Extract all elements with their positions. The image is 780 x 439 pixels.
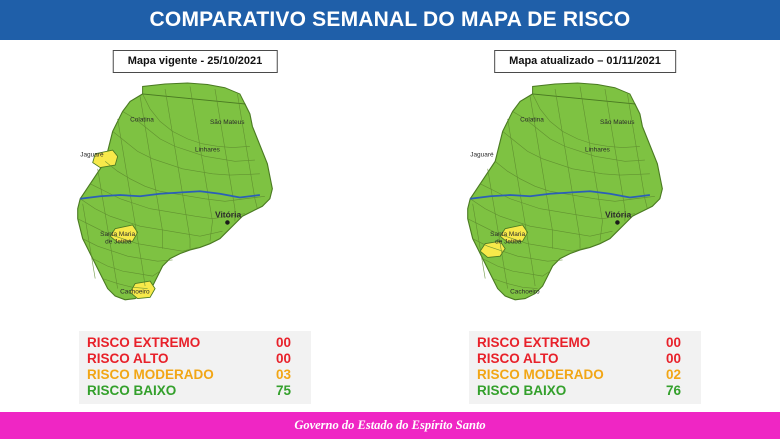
legend-value-alto: 00 <box>276 351 305 367</box>
legend-row-moderado: RISCO MODERADO 02 <box>475 367 695 383</box>
legend-value-moderado: 03 <box>276 367 305 383</box>
map-label-cachoeiro: Cachoeiro <box>510 289 540 296</box>
legend-row-alto: RISCO ALTO 00 <box>475 351 695 367</box>
map-label-jaguare: Jaguaré <box>80 151 104 158</box>
map-svg-vigente: Vitória Jaguaré Linhares São Mateus Cola… <box>45 74 345 336</box>
map-svg-atualizado: Vitória Jaguaré Linhares São Mateus Cola… <box>435 74 735 336</box>
legend-label-extremo: RISCO EXTREMO <box>85 335 200 351</box>
map-label-linhares: Linhares <box>195 146 220 153</box>
capital-marker <box>225 220 229 224</box>
legend-label-alto: RISCO ALTO <box>85 351 169 367</box>
panel-vigente: Mapa vigente - 25/10/2021 <box>0 40 390 412</box>
map-label-santa-maria-jetiba: Santa Maria <box>490 231 525 238</box>
panels-container: Mapa vigente - 25/10/2021 <box>0 40 780 412</box>
legend-value-extremo: 00 <box>276 335 305 351</box>
footer-text: Governo do Estado do Espírito Santo <box>294 418 485 433</box>
legend-atualizado: RISCO EXTREMO 00 RISCO ALTO 00 RISCO MOD… <box>469 331 701 404</box>
map-label-santa-maria-jetiba: Santa Maria <box>100 231 135 238</box>
legend-vigente: RISCO EXTREMO 00 RISCO ALTO 00 RISCO MOD… <box>79 331 311 404</box>
footer-bar: Governo do Estado do Espírito Santo <box>0 412 780 439</box>
map-label-jaguare: Jaguaré <box>470 151 494 158</box>
legend-row-baixo: RISCO BAIXO 76 <box>475 383 695 399</box>
page-title: COMPARATIVO SEMANAL DO MAPA DE RISCO <box>150 8 631 32</box>
map-label-linhares: Linhares <box>585 146 610 153</box>
map-label-vitoria: Vitória <box>215 209 241 219</box>
header-bar: COMPARATIVO SEMANAL DO MAPA DE RISCO <box>0 0 780 40</box>
poster-root: COMPARATIVO SEMANAL DO MAPA DE RISCO Map… <box>0 0 780 439</box>
legend-value-moderado: 02 <box>666 367 695 383</box>
legend-label-baixo: RISCO BAIXO <box>85 383 176 399</box>
legend-label-baixo: RISCO BAIXO <box>475 383 566 399</box>
map-label-vitoria: Vitória <box>605 209 631 219</box>
map-label-cachoeiro: Cachoeiro <box>120 289 150 296</box>
legend-label-moderado: RISCO MODERADO <box>85 367 214 383</box>
legend-row-extremo: RISCO EXTREMO 00 <box>85 335 305 351</box>
map-state-shape <box>468 83 663 300</box>
map-label-colatina: Colatina <box>520 116 544 123</box>
legend-value-alto: 00 <box>666 351 695 367</box>
legend-label-alto: RISCO ALTO <box>475 351 559 367</box>
map-label-sao-mateus: São Mateus <box>600 119 635 126</box>
map-espirito-santo-atualizado: Vitória Jaguaré Linhares São Mateus Cola… <box>435 74 735 336</box>
panel-caption-vigente: Mapa vigente - 25/10/2021 <box>113 50 278 73</box>
legend-row-extremo: RISCO EXTREMO 00 <box>475 335 695 351</box>
map-espirito-santo-vigente: Vitória Jaguaré Linhares São Mateus Cola… <box>45 74 345 336</box>
panel-caption-atualizado: Mapa atualizado – 01/11/2021 <box>494 50 676 73</box>
map-label-santa-maria-jetiba-2: de Jetibá <box>105 239 132 246</box>
legend-value-baixo: 76 <box>666 383 695 399</box>
map-state-shape <box>78 83 273 300</box>
map-label-santa-maria-jetiba-2: de Jetibá <box>495 239 522 246</box>
map-label-sao-mateus: São Mateus <box>210 119 245 126</box>
legend-row-alto: RISCO ALTO 00 <box>85 351 305 367</box>
legend-label-extremo: RISCO EXTREMO <box>475 335 590 351</box>
capital-marker <box>615 220 619 224</box>
map-label-colatina: Colatina <box>130 116 154 123</box>
legend-value-baixo: 75 <box>276 383 305 399</box>
legend-row-moderado: RISCO MODERADO 03 <box>85 367 305 383</box>
legend-row-baixo: RISCO BAIXO 75 <box>85 383 305 399</box>
legend-value-extremo: 00 <box>666 335 695 351</box>
panel-atualizado: Mapa atualizado – 01/11/2021 <box>390 40 780 412</box>
legend-label-moderado: RISCO MODERADO <box>475 367 604 383</box>
